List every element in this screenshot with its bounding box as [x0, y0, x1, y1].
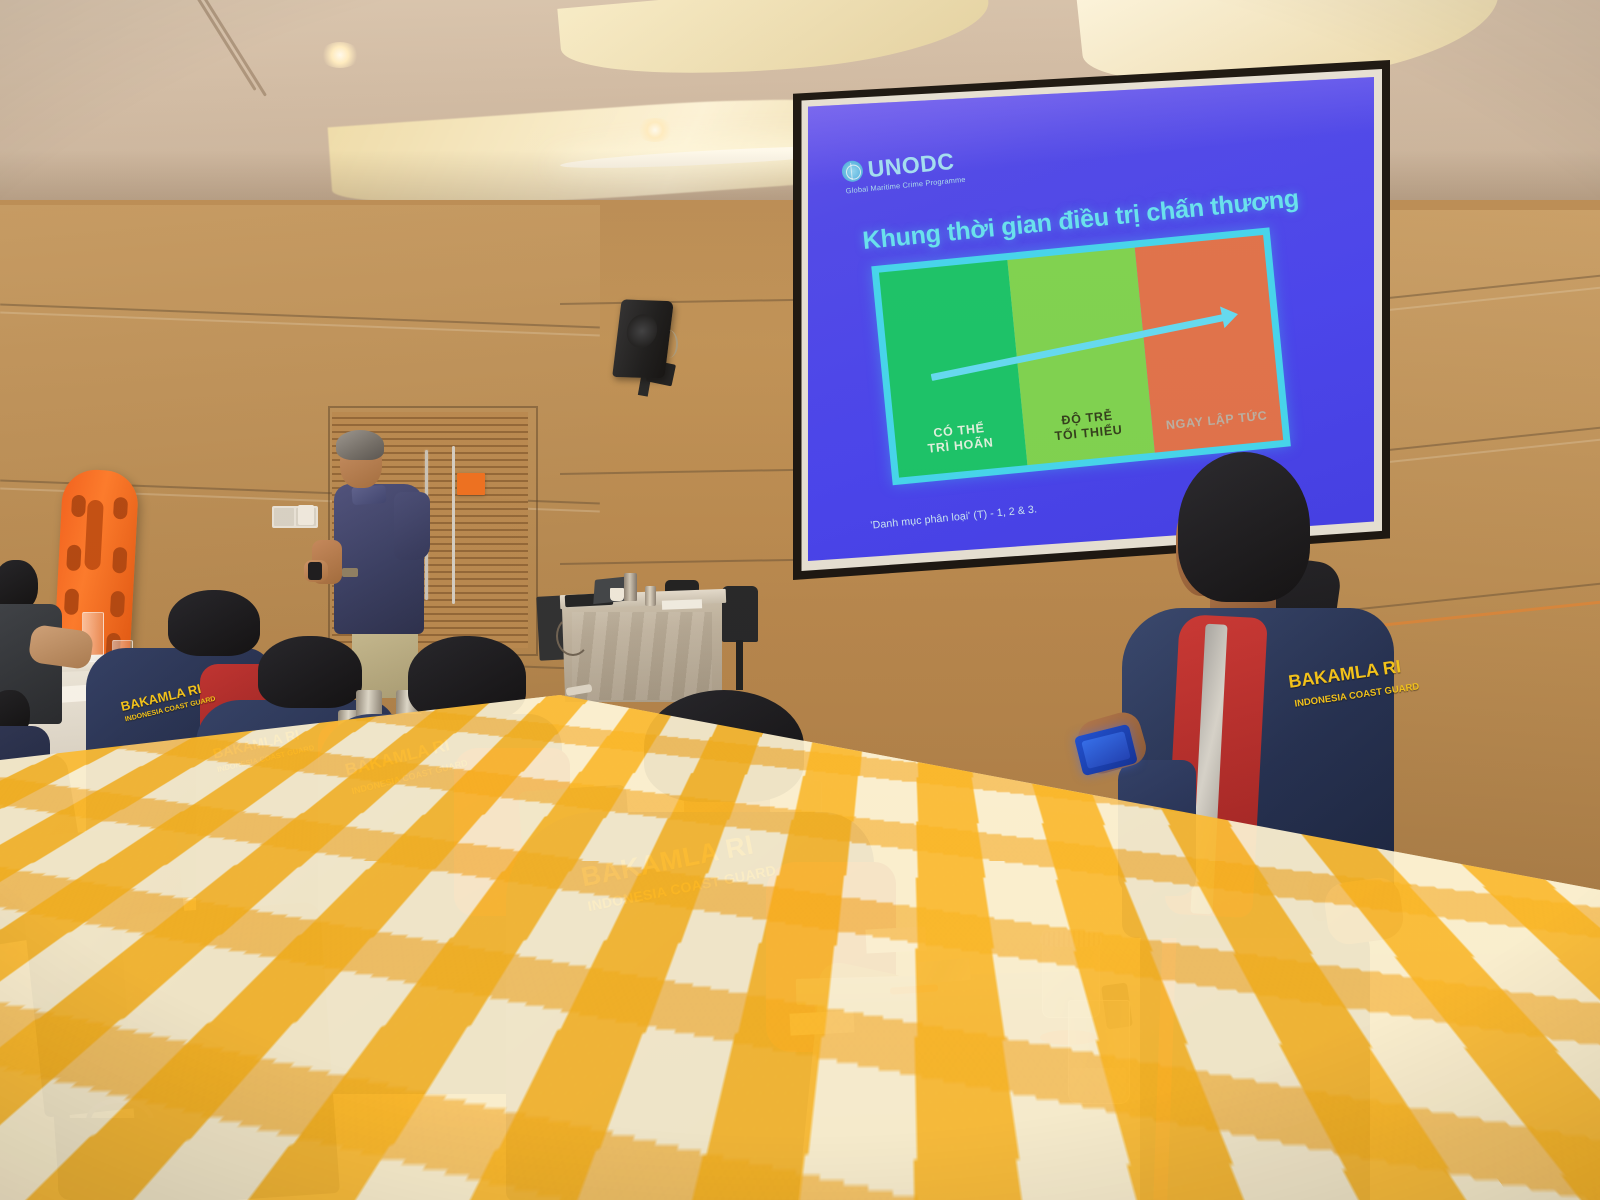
spine-board-hole: [64, 588, 79, 615]
un-emblem-icon: [841, 160, 864, 183]
cup: [610, 588, 624, 601]
presenter-sleeve: [394, 492, 430, 560]
conference-room-photo: UNODC Global Maritime Crime Programme Kh…: [0, 0, 1600, 1200]
speaker-cable: [660, 330, 678, 358]
spine-board-hole: [113, 497, 128, 520]
officer-arm: [1118, 760, 1196, 896]
orange-door-sign: [457, 473, 485, 495]
chair-leg: [736, 640, 743, 690]
officer-hair: [1178, 452, 1310, 602]
paper-sheet: [662, 599, 702, 609]
recessed-downlight-icon: [320, 42, 360, 68]
unodc-logo: UNODC Global Maritime Crime Programme: [841, 147, 986, 214]
triage-panel-label: NGAY LẬP TỨC: [1152, 408, 1282, 436]
presenter-hair: [336, 430, 384, 460]
spine-board-hole: [110, 591, 125, 618]
thermos: [645, 586, 656, 606]
officer-hair: [168, 590, 260, 656]
backpack: [58, 1118, 178, 1200]
presentation-remote[interactable]: [308, 562, 322, 580]
officer-hair: [644, 690, 804, 802]
sachet: [917, 958, 971, 984]
wristwatch: [342, 568, 358, 577]
ceiling-cove-panel-top: [557, 0, 992, 89]
recessed-downlight-icon: [636, 118, 674, 142]
triage-panel-label: CÓ THỂ TRÌ HOÃN: [894, 417, 1025, 461]
switch-toggle[interactable]: [274, 508, 294, 526]
glass-water: [1070, 1068, 1126, 1100]
triage-timeline-diagram: CÓ THỂ TRÌ HOÃN ĐỘ TRỄ TỐI THIỂU NGAY LẬ…: [871, 227, 1291, 485]
chair[interactable]: [722, 586, 758, 642]
napkin: [865, 926, 926, 953]
coiled-cable: [556, 616, 590, 656]
triage-panel-label: ĐỘ TRỄ TỐI THIỂU: [1022, 405, 1153, 449]
triage-panel-immediate: NGAY LẬP TỨC: [1135, 235, 1283, 453]
officer-hair: [408, 636, 526, 720]
glass-paper-cover: [1040, 930, 1102, 947]
table-drape: [572, 612, 712, 700]
spine-board-hole: [112, 547, 127, 574]
spine-board-hole: [66, 544, 81, 571]
door-handle-icon[interactable]: [452, 446, 455, 604]
spine-board-hole: [71, 495, 86, 518]
officer-hair: [258, 636, 362, 708]
thermos: [624, 573, 637, 601]
thermostat-panel[interactable]: [298, 505, 314, 525]
diagram-panels: CÓ THỂ TRÌ HOÃN ĐỘ TRỄ TỐI THIỂU NGAY LẬ…: [879, 235, 1283, 478]
ceiling-vent: [153, 0, 256, 91]
paper-sheet: [789, 1010, 854, 1035]
